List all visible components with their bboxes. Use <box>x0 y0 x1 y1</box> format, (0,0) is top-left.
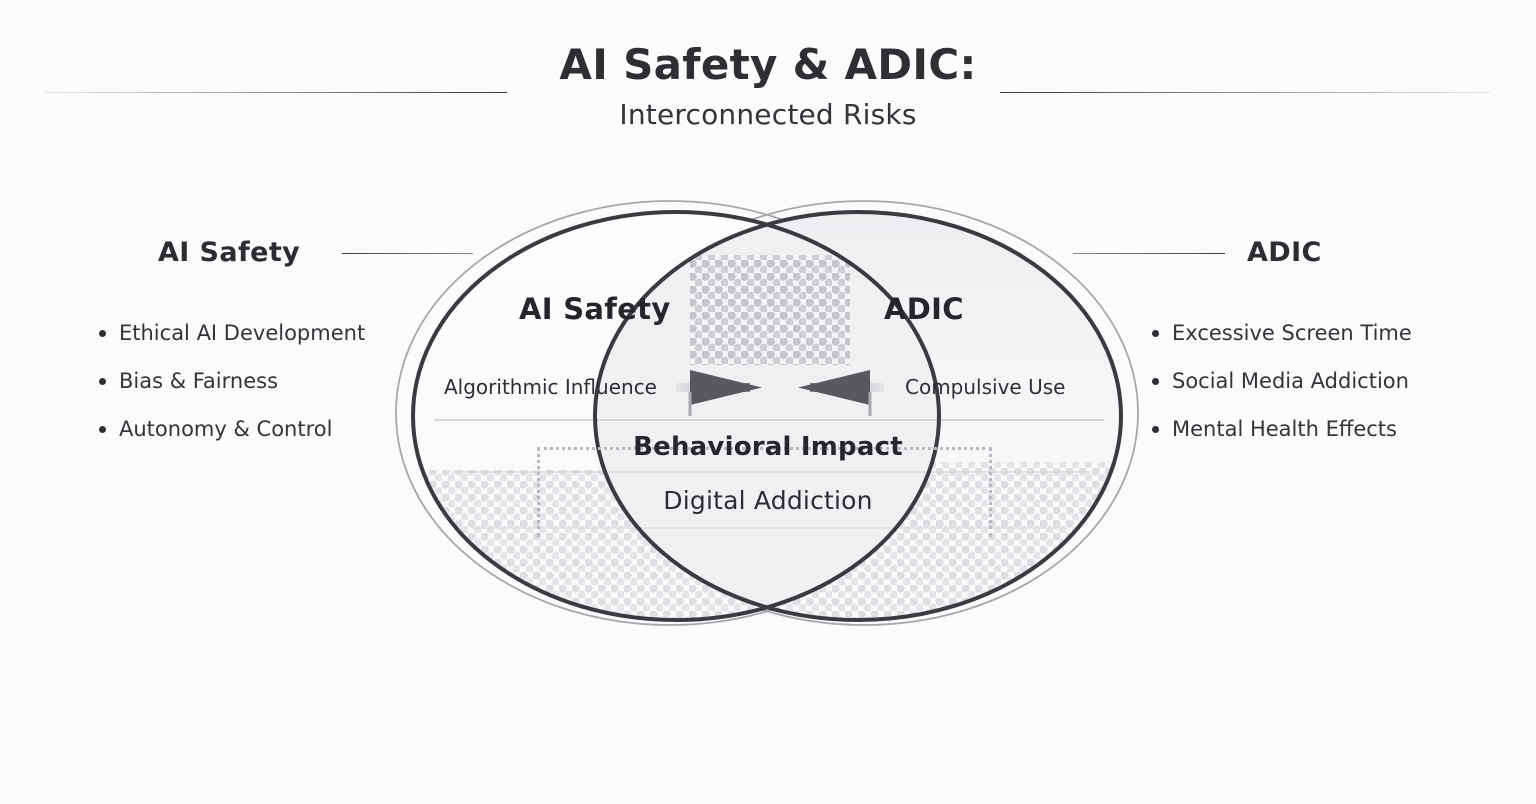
diagram-canvas: AI Safety & ADIC: Interconnected Risks A… <box>0 0 1536 804</box>
flow-label-algorithmic-influence: Algorithmic Influence <box>444 375 657 399</box>
flow-label-compulsive-use: Compulsive Use <box>905 375 1065 399</box>
intersection-label: Digital Addiction <box>0 486 1536 515</box>
venn-diagram <box>0 0 1536 804</box>
intersection-heading: Behavioral Impact <box>0 432 1536 462</box>
venn-left-circle-label: AI Safety <box>519 292 671 326</box>
venn-right-circle-label: ADIC <box>884 292 964 326</box>
